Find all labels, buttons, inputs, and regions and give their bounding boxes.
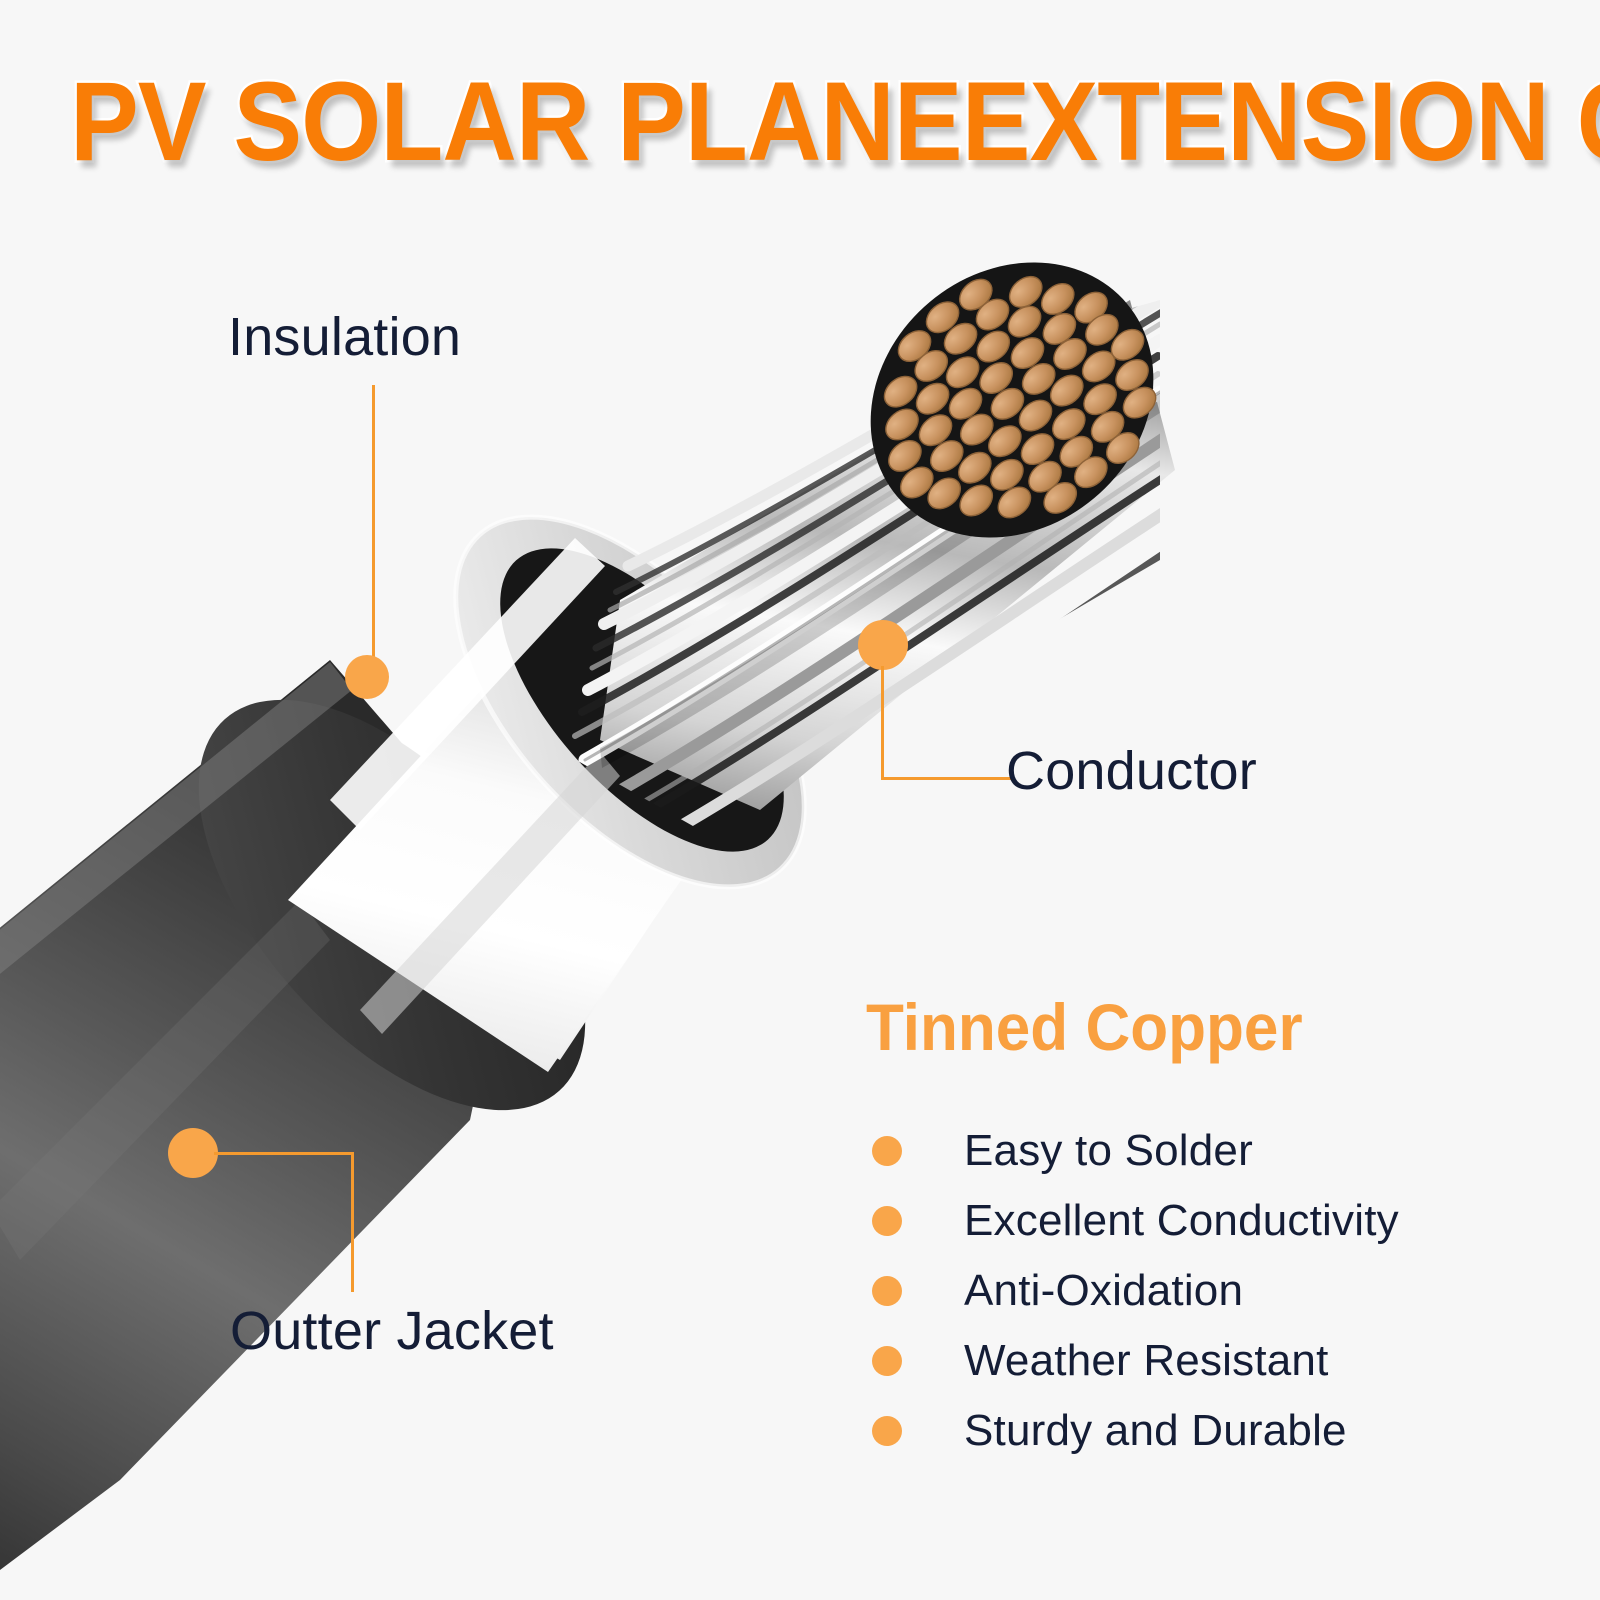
feature-item-label: Weather Resistant [964,1336,1329,1386]
feature-list: Easy to Solder Excellent Conductivity An… [866,1116,1486,1466]
feature-item-label: Excellent Conductivity [964,1196,1399,1246]
bullet-dot-icon [872,1416,902,1446]
leader-dot-conductor [858,620,908,670]
feature-panel: Tinned Copper Easy to Solder Excellent C… [866,994,1486,1466]
callout-label-insulation: Insulation [228,306,461,368]
bullet-dot-icon [872,1346,902,1376]
feature-item: Easy to Solder [866,1116,1486,1186]
leader-dot-insulation [345,655,389,699]
bullet-dot-icon [872,1206,902,1236]
feature-item: Sturdy and Durable [866,1396,1486,1466]
feature-item: Excellent Conductivity [866,1186,1486,1256]
feature-item: Weather Resistant [866,1326,1486,1396]
leader-line-jacket-vertical [351,1152,354,1292]
feature-item-label: Sturdy and Durable [964,1406,1347,1456]
feature-item-label: Easy to Solder [964,1126,1253,1176]
page-title: PV SOLAR PLANEEXTENSION CABLE [70,66,1600,178]
bullet-dot-icon [872,1276,902,1306]
bullet-dot-icon [872,1136,902,1166]
leader-dot-outter-jacket [168,1128,218,1178]
leader-line-jacket-horizontal [214,1152,354,1155]
feature-item: Anti-Oxidation [866,1256,1486,1326]
leader-line-insulation [372,385,375,670]
feature-item-label: Anti-Oxidation [964,1266,1243,1316]
callout-label-conductor: Conductor [1006,740,1257,802]
leader-line-conductor-vertical [881,666,884,780]
feature-panel-heading: Tinned Copper [866,994,1449,1060]
callout-label-outter-jacket: Outter Jacket [230,1300,554,1362]
infographic-canvas: PV SOLAR PLANEEXTENSION CABLE Insulation… [0,0,1600,1600]
leader-line-conductor-horizontal [881,777,1011,780]
